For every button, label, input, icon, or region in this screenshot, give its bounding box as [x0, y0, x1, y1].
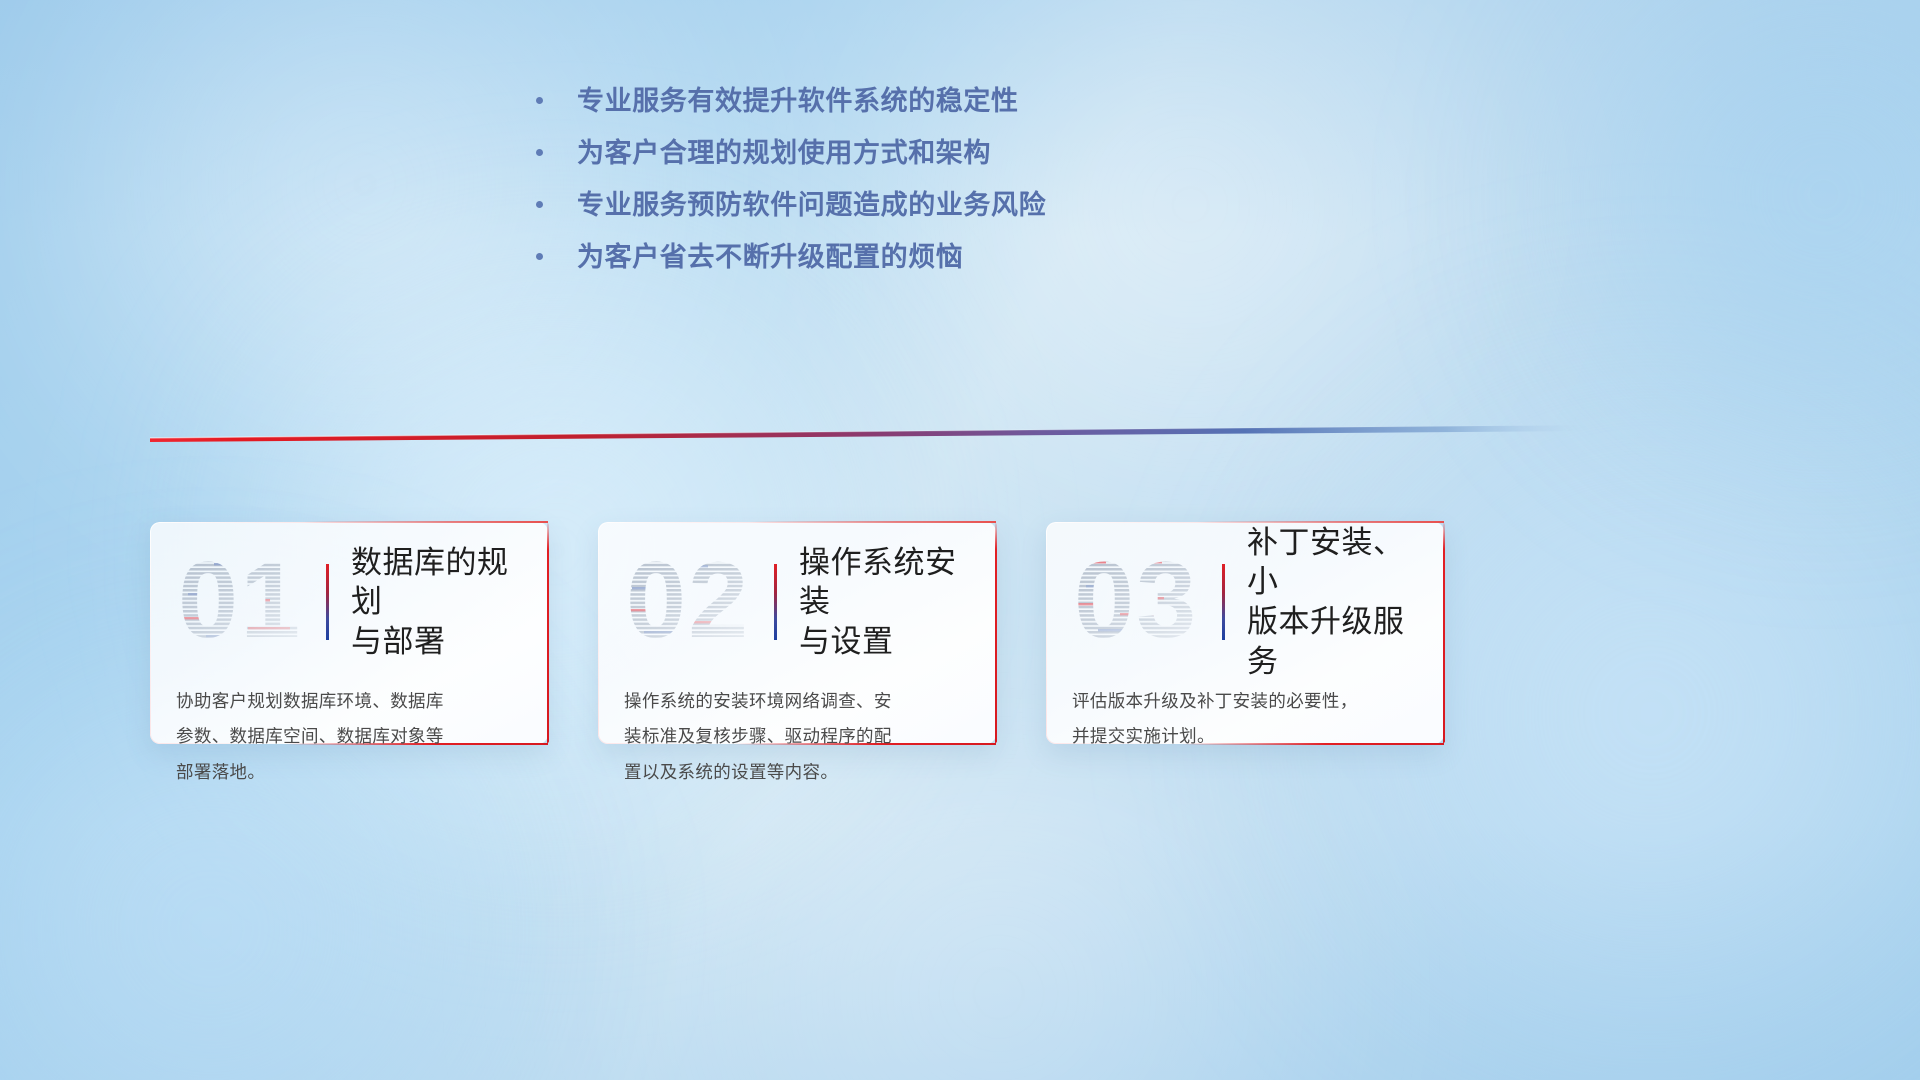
- card-divider-bar: [1222, 564, 1225, 640]
- service-cards: 01: [150, 522, 1630, 744]
- bullet-label: 为客户省去不断升级配置的烦恼: [577, 244, 963, 271]
- bullet-label: 专业服务预防软件问题造成的业务风险: [577, 192, 1046, 219]
- bullet-dot-icon: [536, 149, 543, 156]
- card-divider-bar: [774, 564, 777, 640]
- card-description: 操作系统的安装环境网络调查、安 装标准及复核步骤、驱动程序的配 置以及系统的设置…: [624, 684, 970, 790]
- service-card[interactable]: 01: [150, 522, 548, 744]
- card-description: 评估版本升级及补丁安装的必要性， 并提交实施计划。: [1072, 684, 1418, 755]
- service-card[interactable]: 03: [1046, 522, 1444, 744]
- benefits-bullet-list: 专业服务有效提升软件系统的稳定性 为客户合理的规划使用方式和架构 专业服务预防软…: [536, 88, 1046, 296]
- bullet-dot-icon: [536, 97, 543, 104]
- card-header: 02: [624, 546, 970, 658]
- card-title: 补丁安装、小 版本升级服务: [1247, 523, 1418, 682]
- card-header: 03: [1072, 546, 1418, 658]
- list-item: 专业服务有效提升软件系统的稳定性: [536, 88, 1046, 140]
- card-number-striped: 03: [1072, 547, 1204, 657]
- card-divider-bar: [326, 564, 329, 640]
- card-title: 操作系统安装 与设置: [799, 543, 970, 662]
- list-item: 专业服务预防软件问题造成的业务风险: [536, 192, 1046, 244]
- service-card[interactable]: 02: [598, 522, 996, 744]
- bullet-dot-icon: [536, 201, 543, 208]
- card-number-striped: 01: [176, 547, 308, 657]
- list-item: 为客户省去不断升级配置的烦恼: [536, 244, 1046, 296]
- card-description: 协助客户规划数据库环境、数据库 参数、数据库空间、数据库对象等 部署落地。: [176, 684, 522, 790]
- card-number-striped: 02: [624, 547, 756, 657]
- bullet-label: 专业服务有效提升软件系统的稳定性: [577, 88, 1019, 115]
- card-title: 数据库的规划 与部署: [351, 543, 522, 662]
- section-divider: [150, 418, 1590, 444]
- bullet-label: 为客户合理的规划使用方式和架构: [577, 140, 991, 167]
- bullet-dot-icon: [536, 253, 543, 260]
- list-item: 为客户合理的规划使用方式和架构: [536, 140, 1046, 192]
- card-header: 01: [176, 546, 522, 658]
